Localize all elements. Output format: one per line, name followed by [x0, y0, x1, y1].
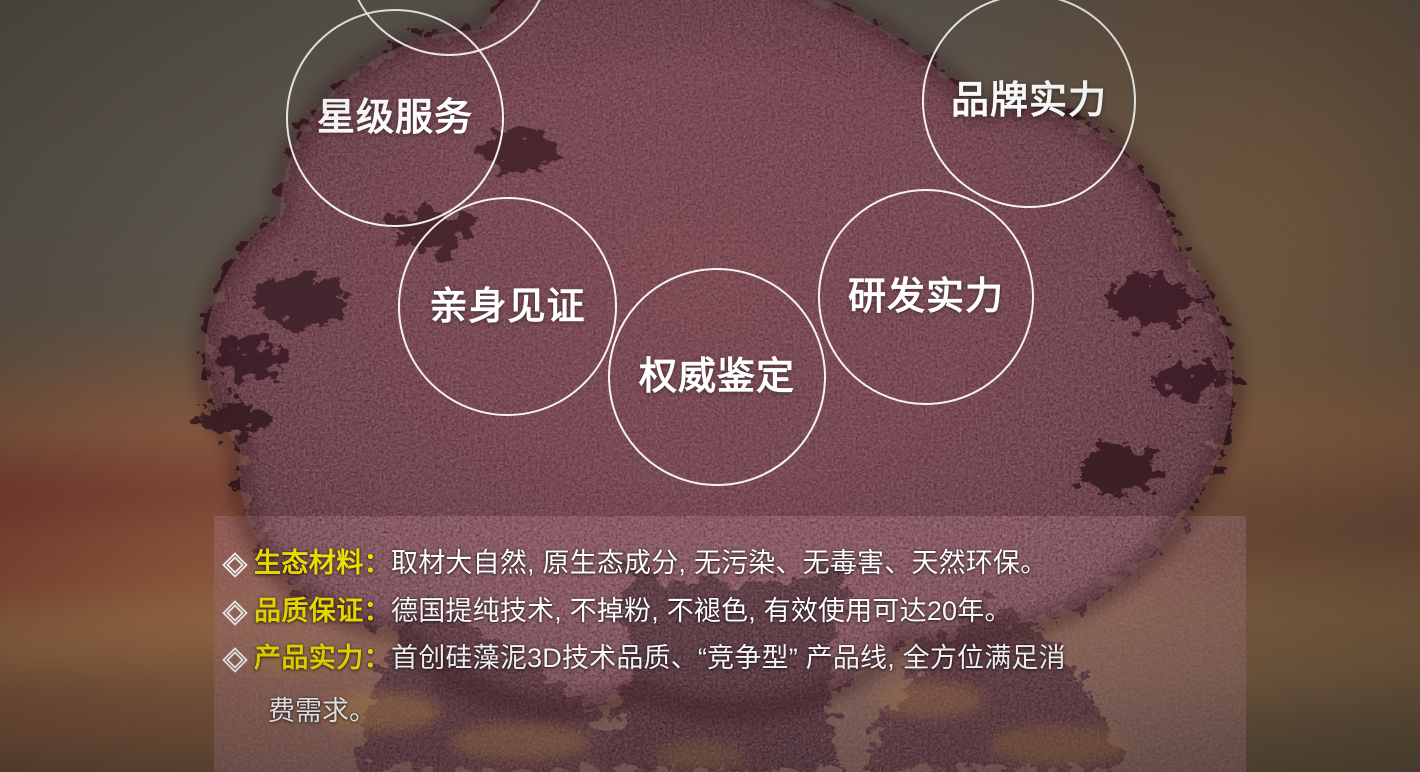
promo-banner: 星级服务 品牌实力 亲身见证 权威鉴定 研发实力 生态材料：取材大自然, 原生态… — [0, 0, 1420, 772]
vignette-overlay — [0, 0, 1420, 772]
